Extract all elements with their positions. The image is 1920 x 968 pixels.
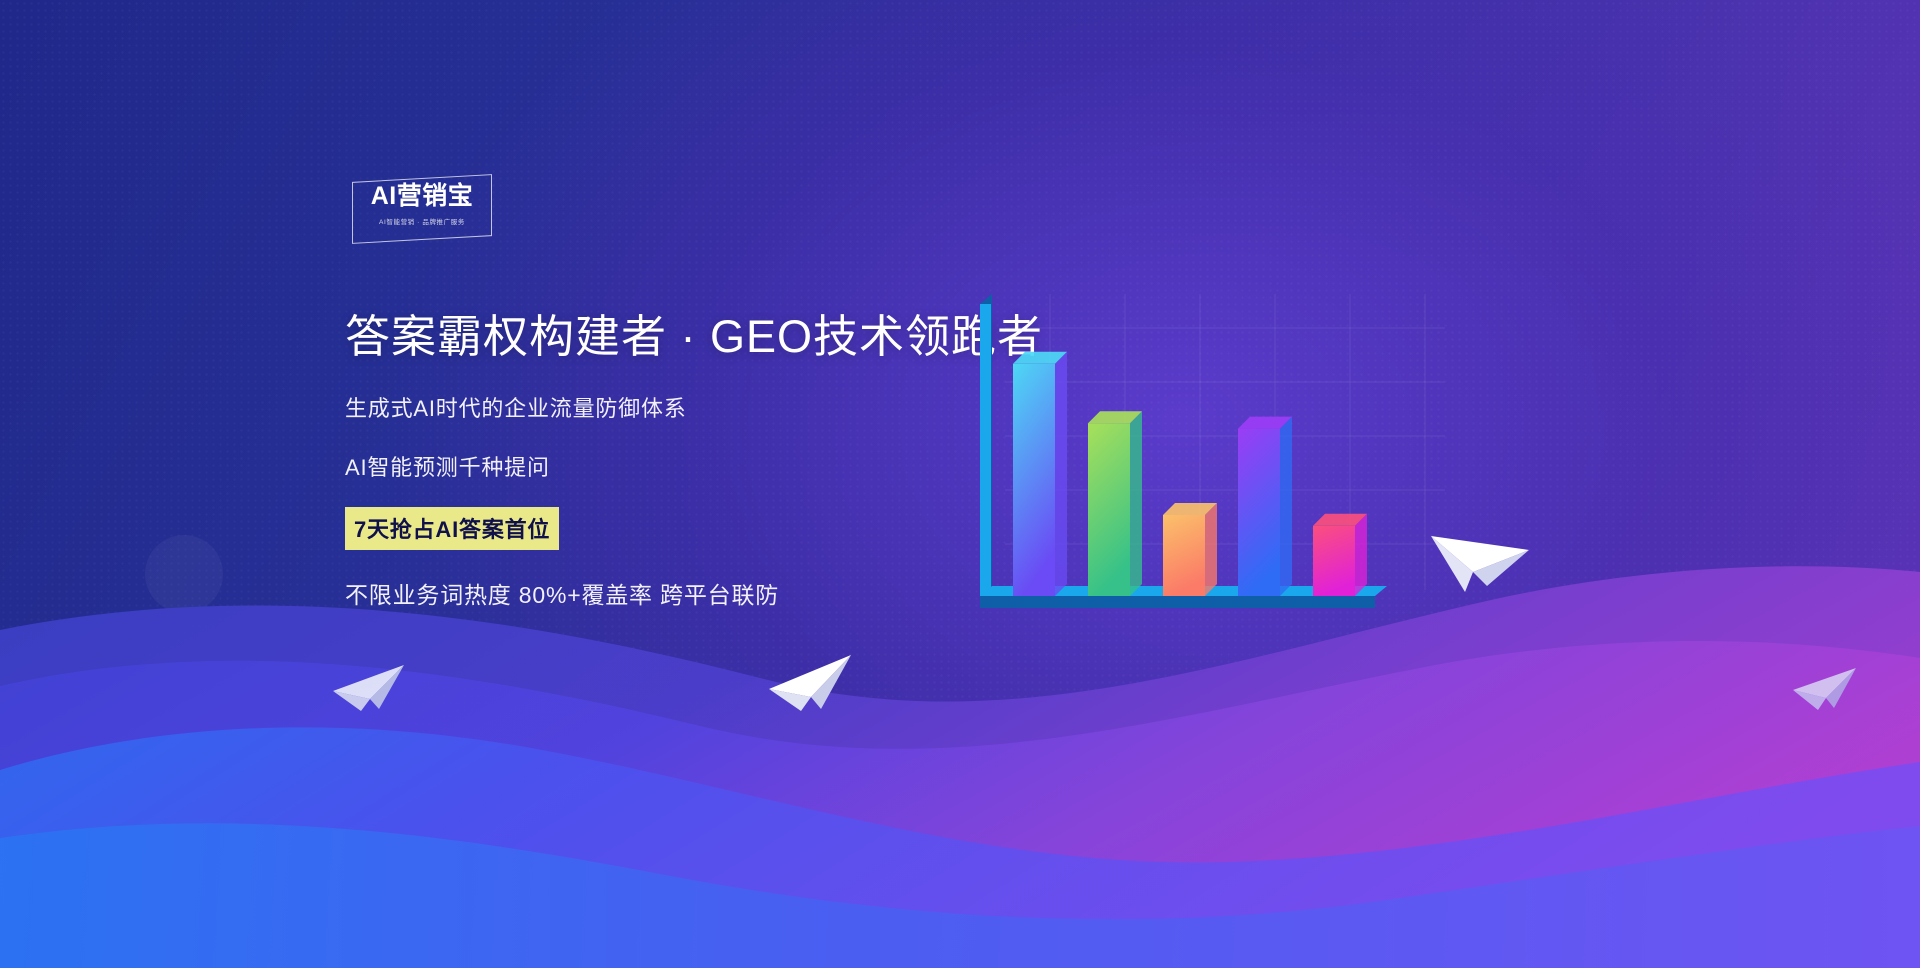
bar-front-face: [1238, 429, 1280, 596]
subline-4: 不限业务词热度 80%+覆盖率 跨平台联防: [345, 576, 1065, 610]
paper-plane-icon: [1790, 660, 1862, 720]
bar-front-face: [1163, 515, 1205, 596]
highlight-badge: 7天抢占AI答案首位: [345, 507, 559, 550]
brand-logo[interactable]: AI营销宝 AI智能营销 · 品牌推广服务: [352, 178, 492, 240]
bar-front-face: [1088, 423, 1130, 596]
chart-grid: [1005, 294, 1445, 590]
bar-chart-illustration: [975, 290, 1445, 665]
page-title: 答案霸权构建者 · GEO技术领跑者: [345, 310, 1065, 363]
bar-side-face: [1130, 411, 1142, 596]
bar-front-face: [1013, 364, 1055, 596]
highlight-row: 7天抢占AI答案首位: [345, 507, 1065, 550]
paper-plane-icon: [765, 645, 857, 723]
hero-banner: AI营销宝 AI智能营销 · 品牌推广服务 答案霸权构建者 · GEO技术领跑者…: [0, 0, 1920, 968]
paper-plane-icon: [1425, 512, 1535, 602]
bar-side-face: [1055, 352, 1067, 596]
logo-tagline: AI智能营销 · 品牌推广服务: [352, 216, 492, 226]
chart-bars: [1013, 352, 1367, 596]
chart-y-axis: [980, 294, 992, 596]
paper-plane-icon: [330, 655, 410, 721]
bar-side-face: [1355, 514, 1367, 596]
subline-2: AI智能预测千种提问: [345, 450, 1065, 482]
subline-1: 生成式AI时代的企业流量防御体系: [345, 391, 1065, 423]
hero-copy: 答案霸权构建者 · GEO技术领跑者 生成式AI时代的企业流量防御体系 AI智能…: [345, 310, 1065, 610]
bar-side-face: [1205, 503, 1217, 596]
bar-front-face: [1313, 526, 1355, 596]
bar-side-face: [1280, 417, 1292, 596]
logo-text: AI营销宝: [352, 184, 492, 209]
